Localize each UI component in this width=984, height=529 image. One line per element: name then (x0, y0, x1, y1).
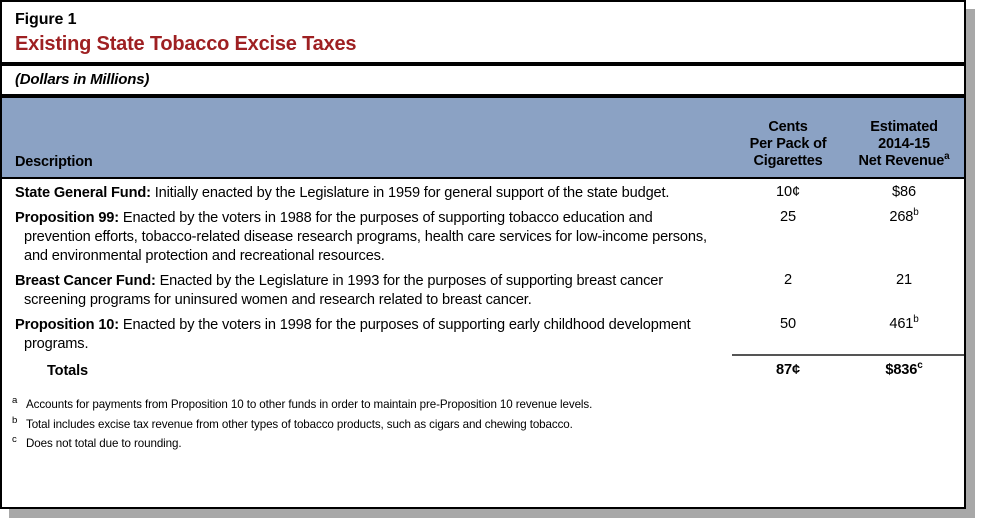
column-header-description: Description (2, 97, 732, 178)
row-revenue-footnote-marker: b (913, 314, 918, 325)
footnote-item: cDoes not total due to rounding. (12, 433, 964, 453)
cents-header-line-1: Cents (732, 119, 844, 136)
row-revenue-value: 268 (889, 209, 913, 225)
cents-header-line-3: Cigarettes (732, 153, 844, 170)
table-row: Proposition 99: Enacted by the voters in… (2, 204, 964, 267)
table-body: State General Fund: Initially enacted by… (2, 178, 964, 385)
row-revenue-cell: 21 (844, 267, 964, 311)
row-description-text: Enacted by the voters in 1988 for the pu… (24, 210, 707, 264)
revenue-header-line-3: Net Revenuea (844, 153, 964, 170)
table-row: State General Fund: Initially enacted by… (2, 178, 964, 204)
row-description: State General Fund: Initially enacted by… (2, 178, 732, 204)
row-revenue-cell: $86 (844, 178, 964, 204)
row-description: Proposition 10: Enacted by the voters in… (2, 311, 732, 355)
row-revenue-value: 21 (896, 272, 912, 288)
tobacco-tax-table: Description Cents Per Pack of Cigarettes… (2, 96, 964, 385)
revenue-header-text: Net Revenue (859, 153, 945, 169)
row-cents-value: 50 (732, 311, 844, 355)
column-header-cents: Cents Per Pack of Cigarettes (732, 97, 844, 178)
cents-header-line-2: Per Pack of (732, 136, 844, 153)
footnote-marker: b (12, 414, 26, 429)
row-lead-label: Proposition 10: (15, 317, 119, 333)
footnotes-block: aAccounts for payments from Proposition … (2, 385, 964, 453)
row-cents-value: 25 (732, 204, 844, 267)
row-revenue-cell: 461b (844, 311, 964, 355)
row-lead-label: State General Fund: (15, 185, 151, 201)
row-cents-value: 10¢ (732, 178, 844, 204)
row-revenue-value: 461 (889, 316, 913, 332)
row-description-text: Enacted by the voters in 1998 for the pu… (24, 317, 691, 352)
row-description: Proposition 99: Enacted by the voters in… (2, 204, 732, 267)
totals-revenue-footnote-marker: c (917, 360, 922, 371)
row-revenue-cell: 268b (844, 204, 964, 267)
row-revenue-footnote-marker: b (913, 207, 918, 218)
figure-title: Existing State Tobacco Excise Taxes (2, 32, 964, 62)
row-description-text: Initially enacted by the Legislature in … (151, 185, 670, 201)
figure-container: Figure 1 Existing State Tobacco Excise T… (0, 0, 966, 509)
row-lead-label: Breast Cancer Fund: (15, 273, 156, 289)
table-row: Breast Cancer Fund: Enacted by the Legis… (2, 267, 964, 311)
footnote-text: Does not total due to rounding. (26, 437, 181, 450)
table-row: Proposition 10: Enacted by the voters in… (2, 311, 964, 355)
totals-cents-value: 87¢ (732, 355, 844, 385)
totals-label: Totals (2, 355, 732, 385)
figure-label: Figure 1 (2, 2, 964, 32)
footnote-marker: c (12, 433, 26, 448)
totals-revenue-cell: $836c (844, 355, 964, 385)
footnote-item: bTotal includes excise tax revenue from … (12, 414, 964, 434)
figure-subtitle: (Dollars in Millions) (2, 66, 964, 94)
column-header-revenue: Estimated 2014-15 Net Revenuea (844, 97, 964, 178)
row-description: Breast Cancer Fund: Enacted by the Legis… (2, 267, 732, 311)
footnote-text: Total includes excise tax revenue from o… (26, 417, 573, 430)
totals-row: Totals 87¢ $836c (2, 355, 964, 385)
row-cents-value: 2 (732, 267, 844, 311)
footnote-item: aAccounts for payments from Proposition … (12, 394, 964, 414)
footnote-marker: a (12, 394, 26, 409)
totals-revenue-value: $836 (885, 362, 917, 378)
row-lead-label: Proposition 99: (15, 210, 119, 226)
revenue-header-line-1: Estimated (844, 119, 964, 136)
table-header-row: Description Cents Per Pack of Cigarettes… (2, 97, 964, 178)
row-revenue-value: $86 (892, 184, 916, 200)
footnote-text: Accounts for payments from Proposition 1… (26, 398, 592, 411)
revenue-header-footnote-marker: a (944, 151, 949, 162)
